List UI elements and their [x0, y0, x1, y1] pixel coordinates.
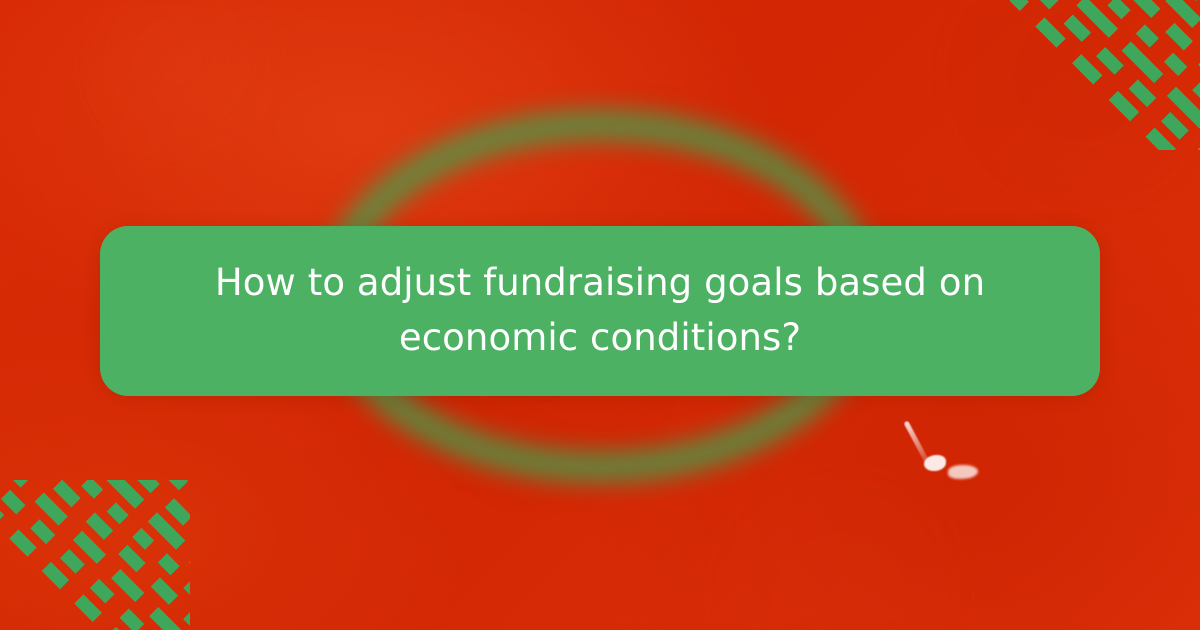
card-title: How to adjust fundraising goals based on…	[100, 256, 1100, 366]
white-comet-sparkle-icon	[900, 415, 986, 495]
social-card-canvas: How to adjust fundraising goals based on…	[0, 0, 1200, 630]
question-card: How to adjust fundraising goals based on…	[100, 226, 1100, 396]
